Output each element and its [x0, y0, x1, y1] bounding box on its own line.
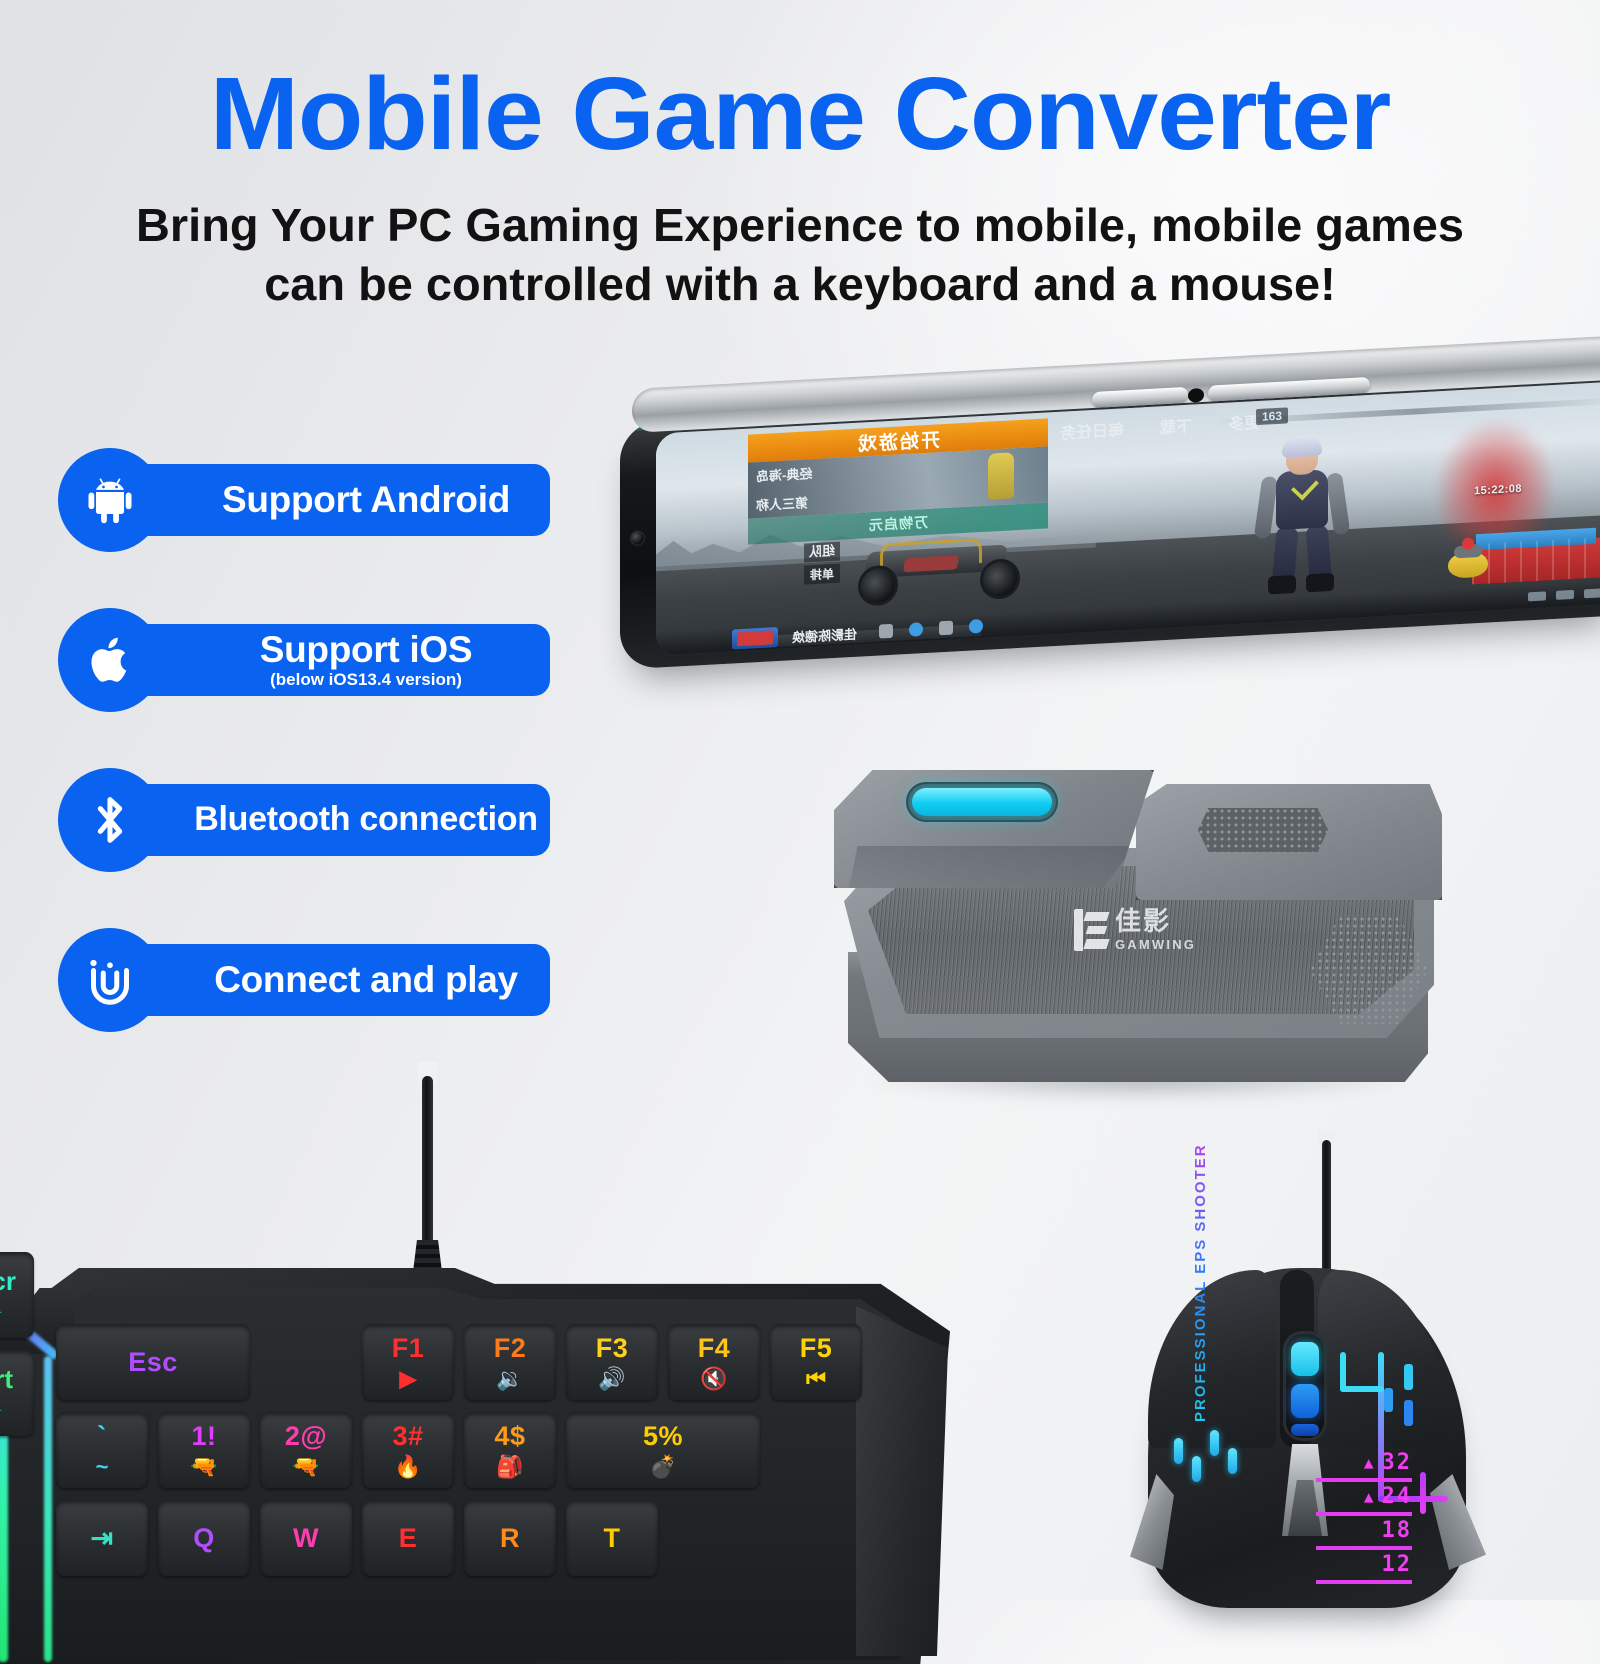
clan-badge [732, 627, 778, 649]
menu-item-daily-task[interactable]: 每日任务 [1060, 416, 1124, 443]
page-subtitle: Bring Your PC Gaming Experience to mobil… [66, 196, 1535, 314]
key-q[interactable]: Q [158, 1500, 250, 1576]
key-label: ⇥ [90, 1525, 113, 1552]
mode-title: 经典-海岛 [756, 463, 812, 485]
key-label: Q [193, 1525, 215, 1552]
dpi-level: ▲24 [1316, 1482, 1412, 1516]
page-title: Mobile Game Converter [0, 62, 1600, 165]
key-scr[interactable]: Scr☼ [0, 1252, 34, 1338]
keyboard-right-edge [856, 1306, 948, 1656]
key-glyph: ▶ [400, 1368, 417, 1390]
key-glyph: 🎒 [496, 1456, 523, 1478]
bottom-bar-status [1528, 588, 1600, 601]
key-3[interactable]: 3#🔥 [362, 1412, 454, 1488]
dpi-level: 18 [1316, 1516, 1412, 1550]
feature-label: Connect and play [214, 961, 518, 1000]
key-label: Scr [0, 1268, 16, 1294]
game-pet [1446, 540, 1490, 578]
key-label: T [604, 1525, 621, 1552]
product-banner: Mobile Game Converter Bring Your PC Gami… [0, 0, 1600, 1600]
key-label: R [500, 1525, 520, 1552]
key-glyph: ~ [96, 1456, 109, 1478]
key-glyph: ☼ [0, 1397, 5, 1421]
mouse-side-text: PROFESSIONAL EPS SHOOTER [1192, 1143, 1209, 1422]
apple-icon [58, 608, 162, 712]
key-f5[interactable]: F5⏮ [770, 1324, 862, 1400]
key-label: W [293, 1525, 319, 1552]
key-label: F1 [392, 1335, 425, 1362]
feature-label: Bluetooth connection [194, 802, 537, 838]
key-glyph: ☼ [0, 1299, 5, 1323]
key-label: Esc [128, 1349, 178, 1376]
dpi-value: 18 [1382, 1518, 1413, 1543]
key-sym[interactable]: ⇥ [56, 1500, 148, 1576]
feature-text: Support Android [168, 464, 578, 536]
smartphone-product-photo: 开始游戏 经典-海岛 第三人称 万物启元 更多 下载 [612, 372, 1600, 692]
dpi-level: 12 [1316, 1550, 1412, 1584]
key-label: E [399, 1525, 418, 1552]
one-handed-gaming-keyboard: Scr☼Prt☼ EscF1▶F2🔉F3🔊F4🔇F5⏮`~1!🔫2@🔫3#🔥4$… [0, 1196, 970, 1656]
game-crates [1472, 526, 1600, 585]
android-icon [58, 448, 162, 552]
game-vehicle [840, 535, 1036, 608]
device-brand-logo: 佳影 GAMWING [1074, 908, 1196, 952]
key-1[interactable]: 1!🔫 [158, 1412, 250, 1488]
bluetooth-icon [58, 768, 162, 872]
key-glyph: 🔥 [394, 1456, 421, 1478]
key-glyph: ⏮ [806, 1368, 826, 1390]
dot-icon-1 [909, 622, 923, 637]
feature-item-bluetooth[interactable]: Bluetooth connection [58, 768, 578, 872]
game-mode-panel[interactable]: 开始游戏 经典-海岛 第三人称 万物启元 [748, 418, 1048, 544]
key-label: 3# [392, 1423, 423, 1450]
feature-label: Support iOS [260, 631, 473, 670]
mouse-rgb-dots-left [1174, 1430, 1246, 1488]
feature-item-connect-and-play[interactable]: Connect and play [58, 928, 578, 1032]
key-w[interactable]: W [260, 1500, 352, 1576]
key-label: 1! [191, 1423, 216, 1450]
key-label: F5 [800, 1335, 833, 1362]
key-f3[interactable]: F3🔊 [566, 1324, 658, 1400]
keyboard-row: EscF1▶F2🔉F3🔊F4🔇F5⏮ [56, 1324, 866, 1400]
mode-sub-label: 万物启元 [868, 512, 928, 535]
key-4[interactable]: 4$🎒 [464, 1412, 556, 1488]
key-esc[interactable]: Esc [56, 1324, 250, 1400]
feature-text: Bluetooth connection [168, 784, 578, 856]
keyboard-row: `~1!🔫2@🔫3#🔥4$🎒5%💣 [56, 1412, 866, 1488]
key-label: 4$ [494, 1423, 525, 1450]
key-glyph: 💣 [649, 1456, 676, 1478]
feature-list: Support Android Support iOS (below iOS13… [58, 448, 578, 1088]
team-count: 单排 [804, 564, 840, 585]
keyboard-row: ⇥QWERT [56, 1500, 866, 1576]
player-name: 佳影陈德焕 [792, 623, 857, 646]
key-label: ` [97, 1423, 107, 1450]
key-glyph: 🔉 [496, 1368, 523, 1390]
key-f1[interactable]: F1▶ [362, 1324, 454, 1400]
key-glyph: 🔇 [700, 1368, 727, 1390]
feature-text: Support iOS (below iOS13.4 version) [168, 624, 578, 696]
headset-icon [939, 621, 953, 636]
mouse-dpi-indicator: ▲32▲241812 [1316, 1448, 1412, 1584]
subtitle-line-1: Bring Your PC Gaming Experience to mobil… [66, 196, 1535, 255]
feature-text: Connect and play [168, 944, 578, 1016]
bottom-bar-icons[interactable] [879, 619, 983, 639]
gaming-mouse: PROFESSIONAL EPS SHOOTER ▲32▲241812 [1130, 1182, 1510, 1612]
key-label: F4 [698, 1335, 731, 1362]
key-f2[interactable]: F2🔉 [464, 1324, 556, 1400]
key-sym[interactable]: `~ [56, 1412, 148, 1488]
feature-item-ios[interactable]: Support iOS (below iOS13.4 version) [58, 608, 578, 712]
mode-perspective: 第三人称 [756, 492, 808, 514]
gamwing-logo-mark [1074, 909, 1108, 951]
brand-name-en: GAMWING [1115, 937, 1196, 952]
feature-sublabel: (below iOS13.4 version) [270, 671, 462, 690]
feature-label: Support Android [222, 481, 510, 520]
menu-item-download[interactable]: 下载 [1160, 413, 1192, 439]
dpi-value: 12 [1382, 1552, 1413, 1577]
start-game-label: 开始游戏 [856, 425, 940, 457]
key-t[interactable]: T [566, 1500, 658, 1576]
key-label: F2 [494, 1335, 527, 1362]
rgb-underglow-left-inner [44, 1356, 52, 1662]
phone-mic-hole [1188, 388, 1204, 403]
key-label: 5% [643, 1423, 683, 1450]
plug-and-play-icon [58, 928, 162, 1032]
key-label: F3 [596, 1335, 629, 1362]
device-vent-grill [1198, 808, 1328, 852]
game-hud-counter: 163 [1256, 407, 1288, 425]
key-label: 2@ [285, 1423, 327, 1450]
key-label: Prt [0, 1366, 13, 1392]
team-label: 组队 [804, 542, 840, 563]
key-glyph: 🔫 [190, 1456, 217, 1478]
key-prt[interactable]: Prt☼ [0, 1350, 34, 1436]
key-glyph: 🔊 [598, 1368, 625, 1390]
subtitle-line-2: can be controlled with a keyboard and a … [66, 255, 1535, 314]
dpi-level: ▲32 [1316, 1448, 1412, 1482]
team-widget[interactable]: 组队 单排 [804, 542, 840, 585]
keyboard-key-matrix: EscF1▶F2🔉F3🔊F4🔇F5⏮`~1!🔫2@🔫3#🔥4$🎒5%💣⇥QWER… [56, 1324, 866, 1588]
key-f4[interactable]: F4🔇 [668, 1324, 760, 1400]
keyboard-side-column: Scr☼Prt☼ [0, 1252, 44, 1448]
keyboard-cable [422, 1076, 433, 1246]
key-r[interactable]: R [464, 1500, 556, 1576]
dpi-arrow-icon: ▲ [1364, 1453, 1376, 1472]
feature-item-android[interactable]: Support Android [58, 448, 578, 552]
key-e[interactable]: E [362, 1500, 454, 1576]
game-red-smoke [1435, 416, 1555, 542]
mode-thumbnail [988, 452, 1014, 499]
key-2[interactable]: 2@🔫 [260, 1412, 352, 1488]
status-led-indicator [912, 788, 1052, 816]
key-glyph: 🔫 [292, 1456, 319, 1478]
game-converter-device: 佳影 GAMWING [828, 756, 1468, 1116]
dpi-value: 32 [1382, 1450, 1413, 1475]
dot-icon-2 [969, 619, 983, 634]
brand-name-cn: 佳影 [1115, 908, 1196, 934]
key-5[interactable]: 5%💣 [566, 1412, 760, 1488]
dpi-value: 24 [1382, 1484, 1413, 1509]
mouse-left-button[interactable] [1148, 1270, 1276, 1448]
profile-icon [879, 624, 893, 639]
mouse-scroll-wheel[interactable] [1286, 1334, 1324, 1438]
dpi-arrow-icon: ▲ [1364, 1487, 1376, 1506]
phone-camera [630, 530, 645, 546]
key-spacer [260, 1324, 352, 1400]
game-character [1248, 438, 1356, 594]
